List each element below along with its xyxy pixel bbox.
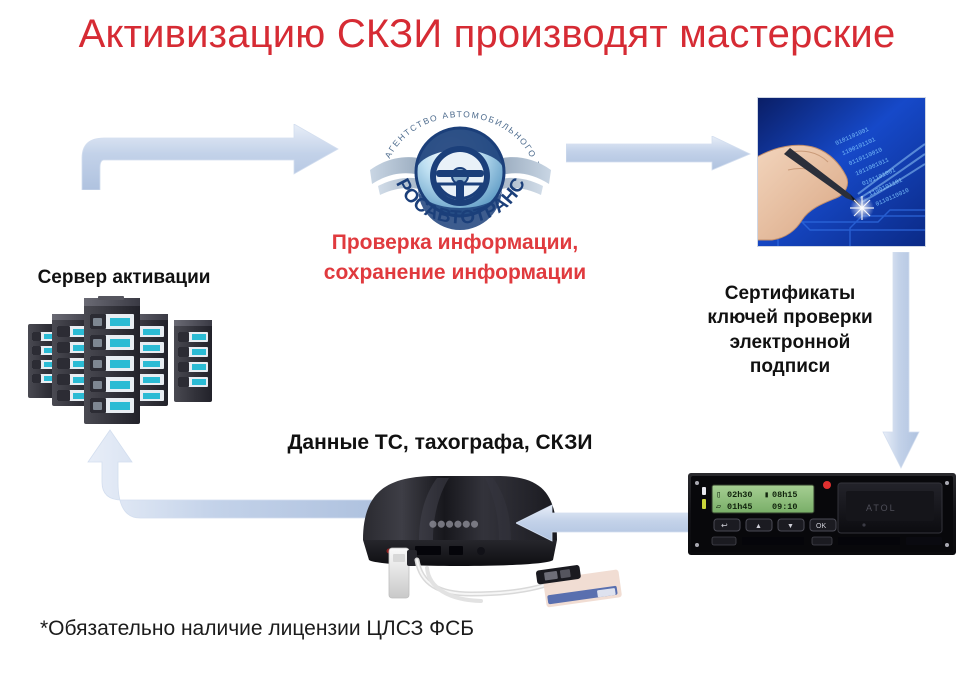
svg-text:▼: ▼ (787, 523, 794, 530)
svg-text:▲: ▲ (755, 523, 762, 530)
svg-text:▮: ▮ (764, 490, 769, 500)
svg-text:▱: ▱ (716, 502, 722, 512)
page-title: Активизацию СКЗИ производят мастерские (0, 12, 974, 57)
tachograph-device: ▯ 02h30 ▮ 08h15 ▱ 01h45 09:10 ↩ ▲ ▼ OK (688, 473, 956, 555)
svg-text:OK: OK (816, 523, 826, 530)
activation-server-racks (22, 296, 218, 428)
footnote: *Обязательно наличие лицензии ЦЛСЗ ФСБ (40, 617, 474, 641)
tacho-display-row2-right: 09:10 (772, 502, 798, 512)
check-info-line-2: сохранение информации (285, 258, 625, 288)
arrow-skzi-to-server (62, 424, 372, 534)
arrow-tachograph-to-skzi (516, 504, 692, 542)
check-info-label: Проверка информации, сохранение информац… (285, 228, 625, 288)
server-label: Сервер активации (8, 266, 240, 290)
certificates-label: Сертификаты ключей проверки электронной … (690, 282, 890, 379)
svg-text:▯: ▯ (716, 490, 721, 500)
rosavtotrans-logo: АГЕНТСТВО АВТОМОБИЛЬНОГО ТРАНСПОРТА РОСА… (358, 92, 563, 232)
svg-text:↩: ↩ (721, 521, 728, 530)
slide-canvas: Активизацию СКЗИ производят мастерские (0, 0, 974, 686)
arrow-server-to-logo (72, 124, 344, 190)
check-info-line-1: Проверка информации, (285, 228, 625, 258)
tacho-display-row1-right: 08h15 (772, 490, 798, 500)
digital-signature-photo: 0101101001 1100101101 0110110010 1011001… (757, 97, 926, 247)
tacho-brand-label: ATOL (866, 503, 897, 513)
tacho-display-row1-left: 02h30 (727, 490, 753, 500)
svg-text:⬤⬤⬤⬤⬤⬤: ⬤⬤⬤⬤⬤⬤ (429, 520, 479, 528)
tacho-display-row2-left: 01h45 (727, 502, 753, 512)
arrow-logo-to-signature (566, 136, 752, 172)
